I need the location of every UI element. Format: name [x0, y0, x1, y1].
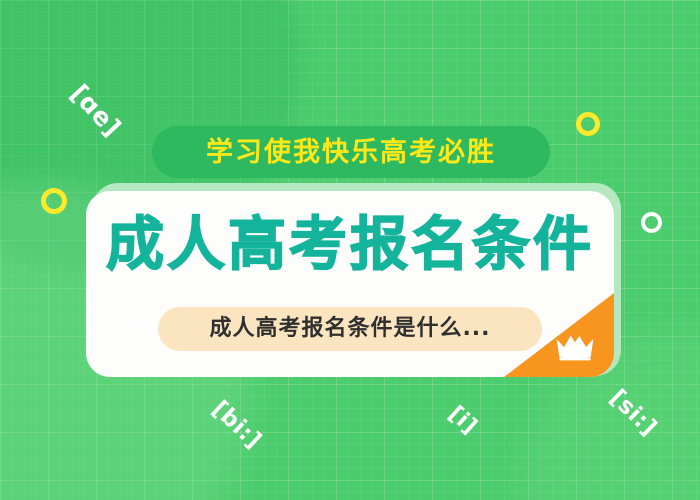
poster-canvas: [ɑe] [bi:] [i] [si:] 学习使我快乐高考必胜 成人高考报名条件…: [0, 0, 700, 500]
decorative-ring-yellow-left: [41, 188, 67, 214]
page-title: 成人高考报名条件: [86, 215, 614, 273]
top-banner-text: 学习使我快乐高考必胜: [206, 139, 496, 166]
main-card: 成人高考报名条件 成人高考报名条件是什么...: [86, 191, 614, 377]
top-banner: 学习使我快乐高考必胜: [152, 126, 550, 178]
subtitle-pill: 成人高考报名条件是什么...: [158, 307, 542, 351]
crown-icon: [554, 333, 596, 363]
decorative-ring-white-right: [641, 212, 662, 233]
decorative-ring-yellow-right: [576, 112, 600, 136]
subtitle-text: 成人高考报名条件是什么...: [209, 318, 490, 340]
